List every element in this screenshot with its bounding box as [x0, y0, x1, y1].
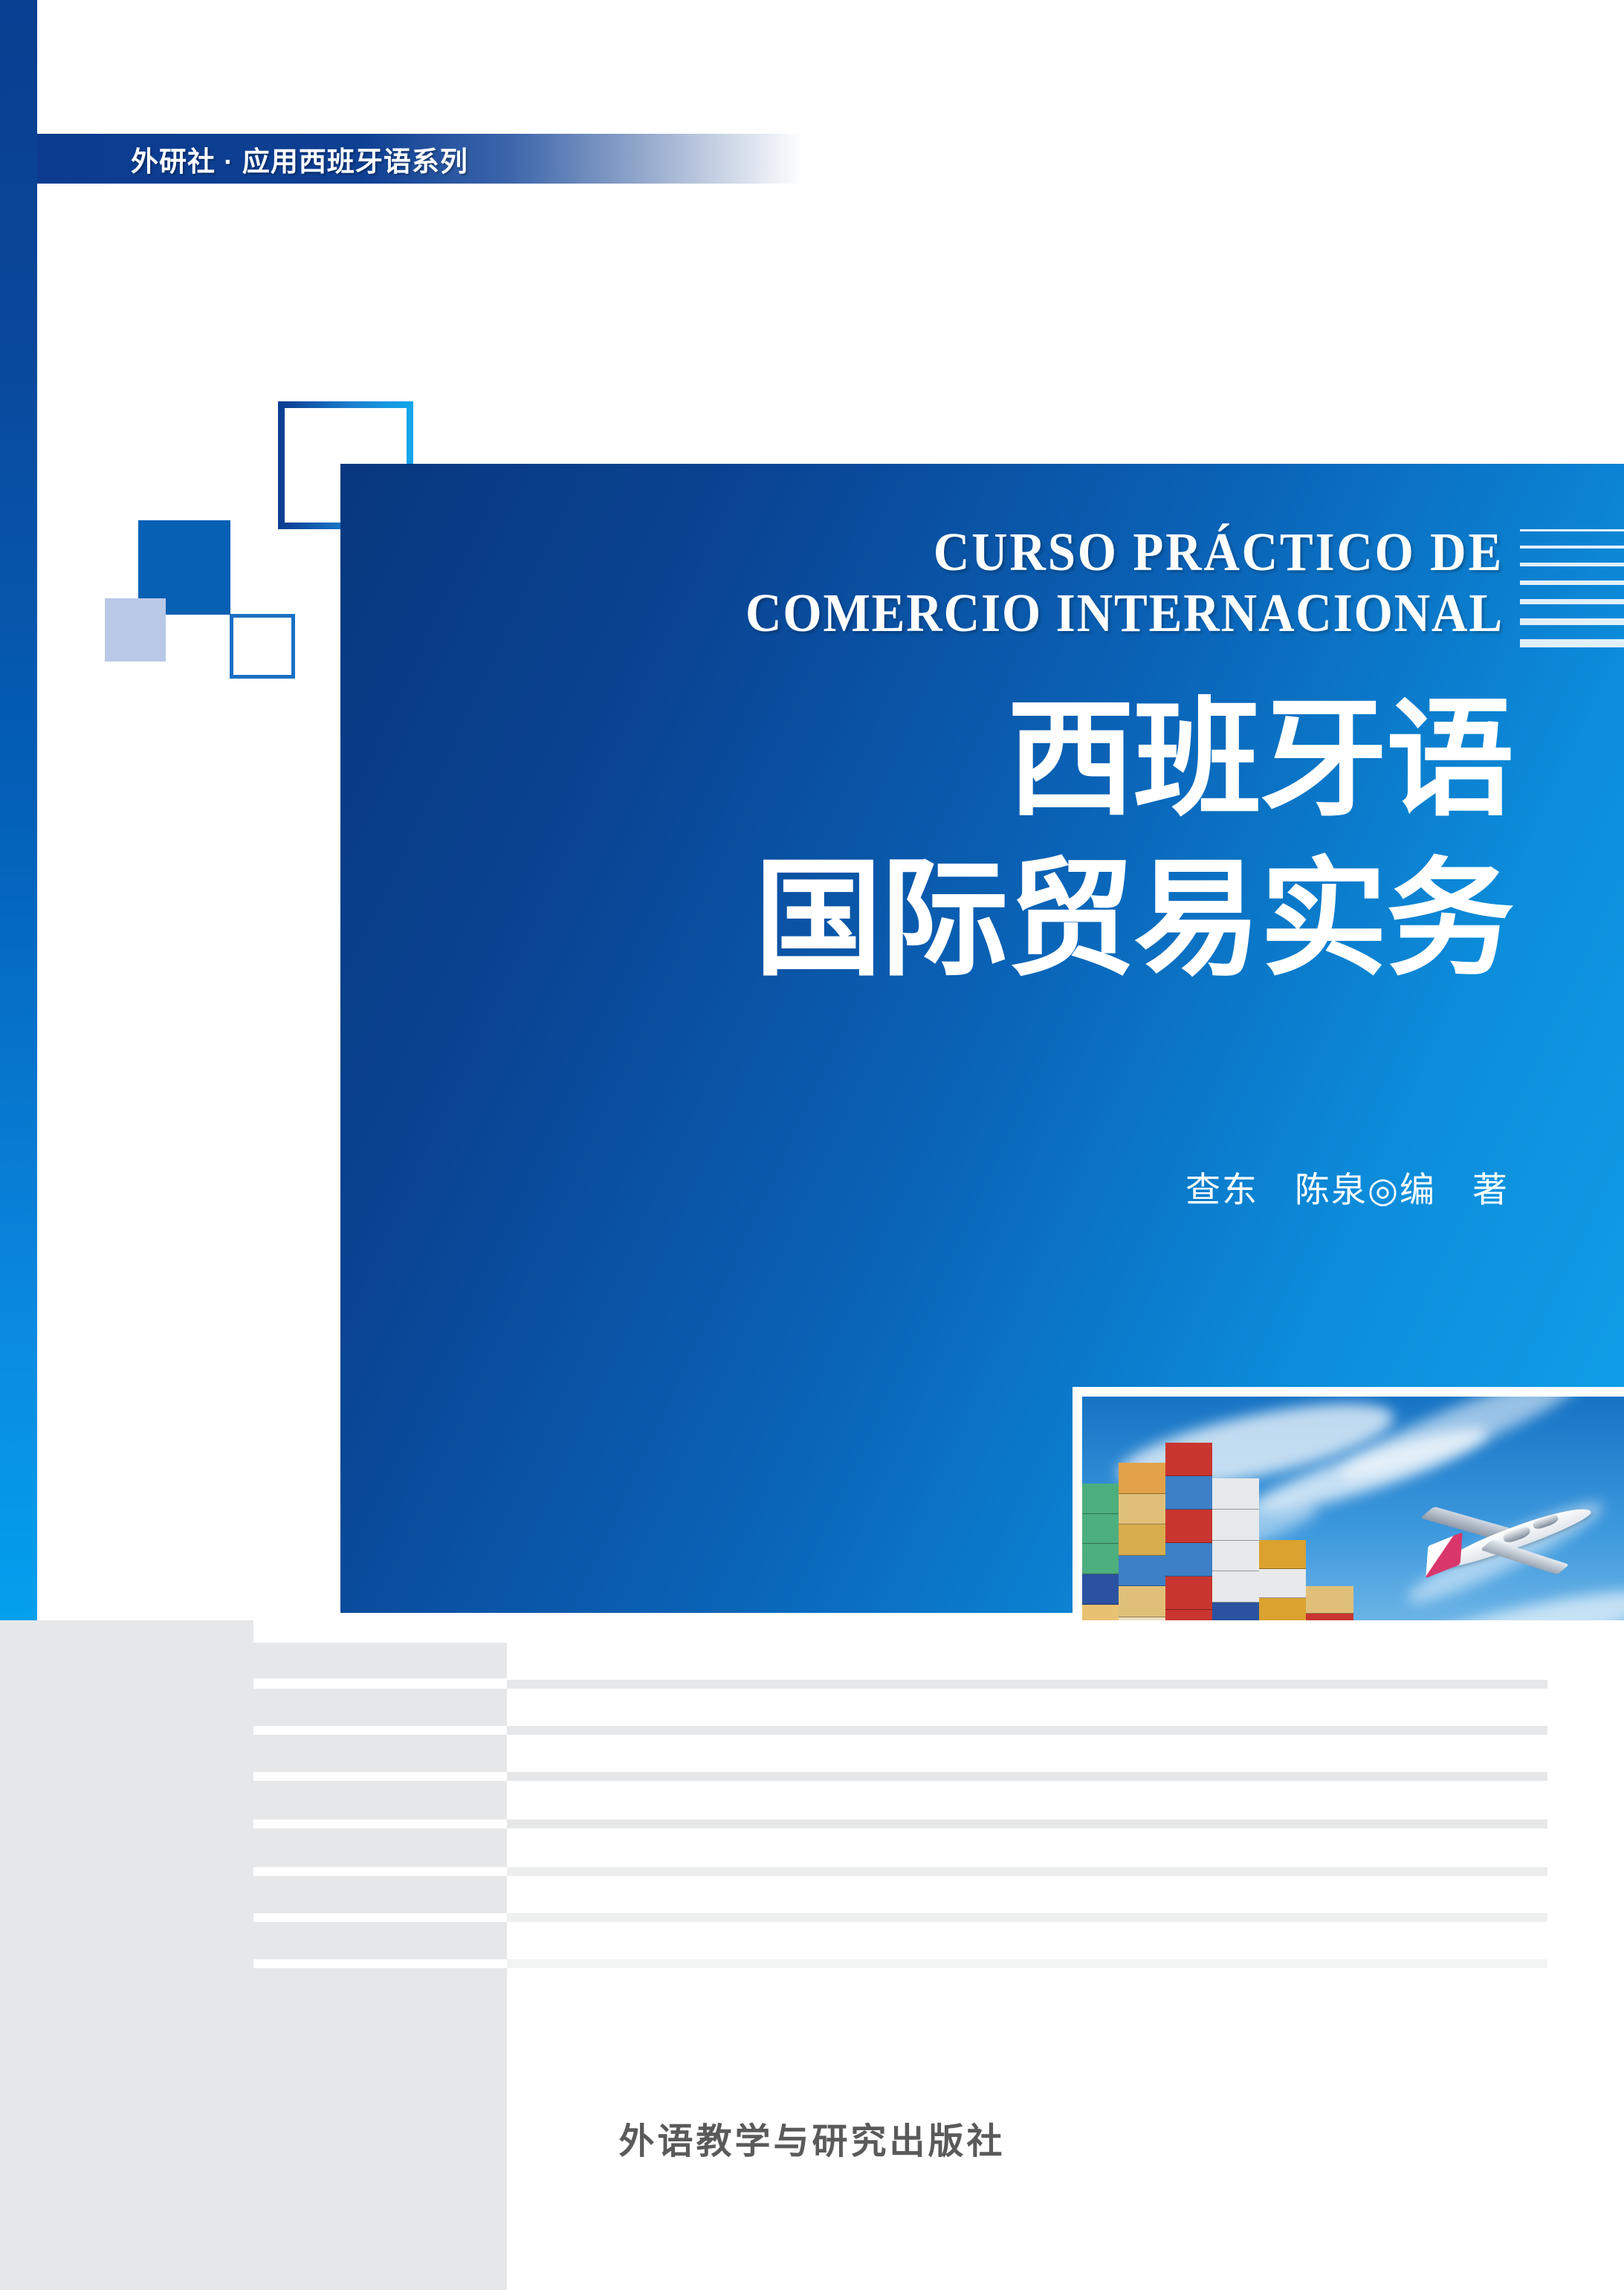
faint-rule	[507, 1726, 1547, 1735]
stripe	[0, 1828, 507, 1867]
spanish-title-line2: COMERCIO INTERNACIONAL	[433, 583, 1504, 644]
faint-rule	[507, 1680, 1547, 1689]
decor-pale-square	[105, 598, 166, 662]
decor-rule-lines	[1520, 529, 1624, 662]
spanish-title: CURSO PRÁCTICO DE COMERCIO INTERNACIONAL	[433, 522, 1504, 644]
chinese-title-line2: 国际贸易实务	[340, 839, 1513, 999]
book-cover: 外研社 · 应用西班牙语系列 CURSO PRÁCTICO DE COMERCI…	[0, 0, 1624, 2290]
stripe	[0, 1876, 507, 1913]
faint-rule	[507, 1772, 1547, 1781]
author-line: 查东 陈泉◎编 著	[340, 1161, 1509, 1212]
stripe	[0, 1922, 507, 1959]
airplane-wing	[1481, 1540, 1570, 1575]
chinese-title-line1: 西班牙语	[340, 679, 1513, 839]
stripe	[0, 1735, 507, 1772]
faint-rule	[507, 1867, 1547, 1876]
chinese-title: 西班牙语 国际贸易实务	[340, 679, 1513, 999]
spanish-title-line1: CURSO PRÁCTICO DE	[433, 522, 1504, 583]
series-banner-label: 外研社 · 应用西班牙语系列	[131, 139, 468, 179]
faint-rule	[507, 1959, 1547, 1968]
stripe	[0, 1781, 507, 1820]
publisher-name: 外语教学与研究出版社	[0, 2112, 1624, 2164]
faint-rule	[507, 1820, 1547, 1828]
series-banner: 外研社 · 应用西班牙语系列	[37, 134, 803, 184]
airplane-icon	[1418, 1481, 1602, 1602]
stripe	[0, 1643, 507, 1678]
left-accent-bar	[0, 0, 37, 1620]
faint-rule	[507, 1913, 1547, 1922]
bottom-stripe-panel	[0, 1620, 1624, 2290]
airplane-tail	[1426, 1533, 1462, 1579]
decor-small-outline-square	[230, 614, 295, 679]
stripe	[0, 1689, 507, 1726]
